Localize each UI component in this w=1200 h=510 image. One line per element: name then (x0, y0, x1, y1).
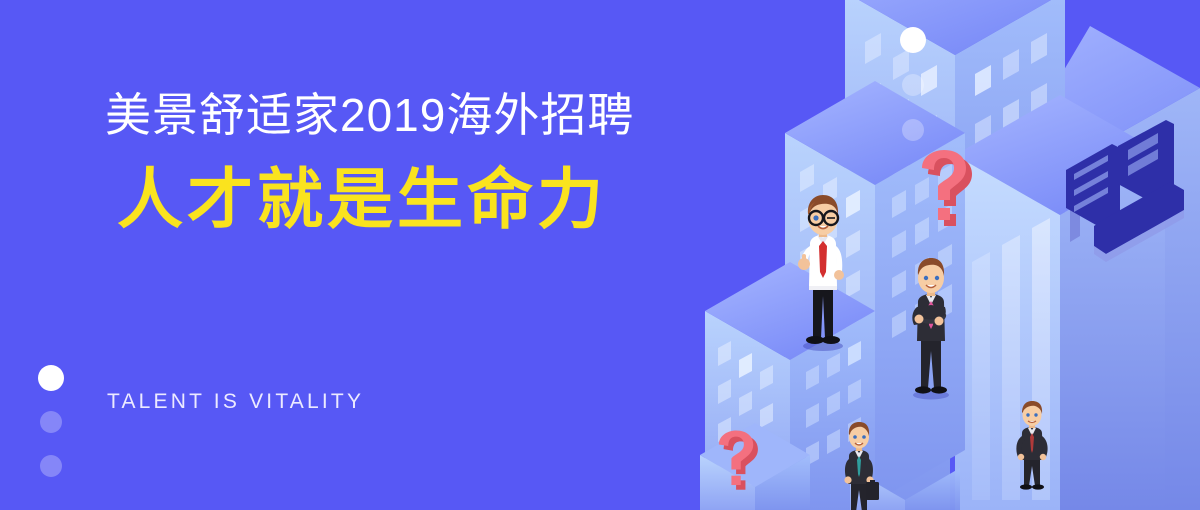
businessman-thumbs-up (780, 192, 866, 352)
headline-chinese-main: 人才就是生命力 (117, 166, 607, 232)
left-dot-faded-2 (40, 455, 62, 477)
businessman-hands-on-hips (1003, 400, 1061, 490)
businessman-arms-crossed (893, 255, 969, 400)
right-dot-solid (900, 27, 926, 53)
right-dot-faded-1 (902, 74, 924, 96)
recruitment-banner: 美景舒适家2019海外招聘 人才就是生命力 TALENT IS VITALITY (0, 0, 1200, 510)
left-dot-faded-1 (40, 411, 62, 433)
businessman-briefcase (828, 420, 890, 510)
right-dot-faded-2 (902, 119, 924, 141)
headline-chinese-subtitle: 美景舒适家2019海外招聘 (105, 92, 634, 138)
headline-text-block: 美景舒适家2019海外招聘 人才就是生命力 TALENT IS VITALITY (105, 0, 725, 510)
left-dot-solid (38, 365, 64, 391)
subtitle-english: TALENT IS VITALITY (107, 391, 364, 412)
